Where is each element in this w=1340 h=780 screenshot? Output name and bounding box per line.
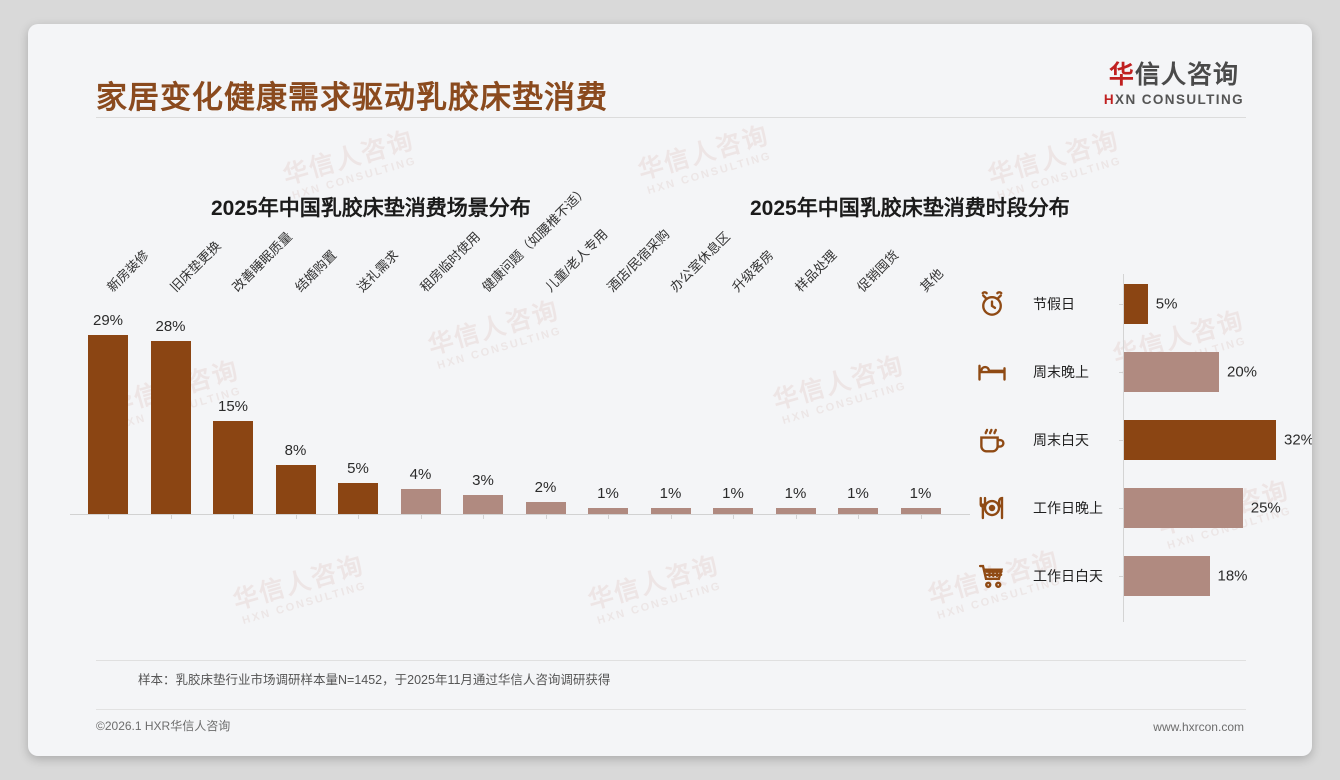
bar-value-label: 25%	[1251, 500, 1281, 517]
category-label: 送礼需求	[352, 245, 402, 295]
bar-row-label: 节假日	[1033, 294, 1075, 314]
right-chart-title: 2025年中国乳胶床垫消费时段分布	[750, 192, 1070, 222]
horizontal-bar[interactable]	[1124, 488, 1243, 528]
bar-row[interactable]: 节假日5%	[933, 270, 1283, 338]
axis-tick	[796, 514, 797, 519]
axis-tick	[421, 514, 422, 519]
bar-value-label: 5%	[1156, 296, 1178, 313]
column-value-label: 1%	[576, 485, 640, 502]
bar-row-label: 周末晚上	[1033, 362, 1089, 382]
bar-value-label: 32%	[1284, 432, 1312, 449]
time-distribution-chart: 节假日5%周末晚上20%周末白天32%工作日晚上25%工作日白天18%	[933, 270, 1283, 630]
column-value-label: 8%	[264, 442, 328, 459]
category-label: 样品处理	[790, 245, 840, 295]
column-plot-area: 29%新房装修28%旧床垫更换15%改善睡眠质量8%结婚购置5%送礼需求4%租房…	[70, 275, 970, 515]
slide-header: 家居变化健康需求驱动乳胶床垫消费 华信人咨询 HXN CONSULTING	[28, 24, 1312, 120]
axis-tick	[921, 514, 922, 519]
axis-tick	[546, 514, 547, 519]
copyright-text: ©2026.1 HXR华信人咨询	[96, 717, 230, 734]
column-bar[interactable]	[213, 421, 253, 514]
website-url: www.hxrcon.com	[1153, 720, 1244, 734]
bar-value-label: 20%	[1227, 364, 1257, 381]
logo-english-highlight: H	[1104, 92, 1115, 107]
scene-distribution-chart: 29%新房装修28%旧床垫更换15%改善睡眠质量8%结婚购置5%送礼需求4%租房…	[70, 275, 970, 540]
column-bar[interactable]	[463, 495, 503, 514]
header-divider	[96, 117, 1246, 118]
logo-english: HXN CONSULTING	[1104, 92, 1244, 107]
alarm-clock-icon	[977, 289, 1007, 319]
dining-plate-icon	[977, 493, 1007, 523]
logo-english-rest: XN CONSULTING	[1115, 92, 1244, 107]
company-logo: 华信人咨询 HXN CONSULTING	[1104, 62, 1244, 107]
category-label: 结婚购置	[290, 245, 340, 295]
horizontal-bar[interactable]	[1124, 420, 1276, 460]
footer-divider	[96, 709, 1246, 710]
column-bar-group[interactable]: 28%旧床垫更换	[151, 274, 191, 514]
horizontal-bar[interactable]	[1124, 556, 1210, 596]
category-label: 升级客房	[727, 245, 777, 295]
axis-tick	[171, 514, 172, 519]
footnote-divider	[96, 660, 1246, 661]
logo-chinese: 华信人咨询	[1104, 62, 1244, 90]
bar-row-label: 工作日白天	[1033, 566, 1103, 586]
column-value-label: 3%	[451, 472, 515, 489]
logo-chinese-rest: 信人咨询	[1135, 61, 1239, 89]
axis-tick	[233, 514, 234, 519]
page-title: 家居变化健康需求驱动乳胶床垫消费	[96, 72, 608, 117]
category-label: 新房装修	[102, 245, 152, 295]
column-value-label: 29%	[76, 312, 140, 329]
bar-row-label: 周末白天	[1033, 430, 1089, 450]
axis-tick	[858, 514, 859, 519]
column-bar-group[interactable]: 15%改善睡眠质量	[213, 274, 253, 514]
axis-tick	[483, 514, 484, 519]
column-bar[interactable]	[338, 483, 378, 514]
bar-value-label: 18%	[1218, 568, 1248, 585]
column-bar-group[interactable]: 3%健康问题（如腰椎不适）	[463, 274, 503, 514]
column-value-label: 28%	[139, 318, 203, 335]
bar-row[interactable]: 周末白天32%	[933, 406, 1283, 474]
shopping-cart-icon	[977, 561, 1007, 591]
source-note: 样本：乳胶床垫行业市场调研样本量N=1452，于2025年11月通过华信人咨询调…	[138, 669, 610, 688]
column-bar-group[interactable]: 2%儿童/老人专用	[526, 274, 566, 514]
column-bar-group[interactable]: 1%促销囤货	[838, 274, 878, 514]
column-value-label: 1%	[701, 485, 765, 502]
bar-row[interactable]: 工作日晚上25%	[933, 474, 1283, 542]
category-label: 促销囤货	[852, 245, 902, 295]
category-axis-line	[70, 514, 970, 515]
bar-row[interactable]: 周末晚上20%	[933, 338, 1283, 406]
axis-tick	[671, 514, 672, 519]
horizontal-bar[interactable]	[1124, 352, 1219, 392]
axis-tick	[358, 514, 359, 519]
column-bar[interactable]	[88, 335, 128, 514]
column-value-label: 1%	[826, 485, 890, 502]
column-bar[interactable]	[526, 502, 566, 514]
column-bar-group[interactable]: 1%样品处理	[776, 274, 816, 514]
column-value-label: 1%	[764, 485, 828, 502]
axis-tick	[733, 514, 734, 519]
column-bar-group[interactable]: 1%酒店/民宿采购	[588, 274, 628, 514]
axis-tick	[296, 514, 297, 519]
column-value-label: 1%	[639, 485, 703, 502]
axis-tick	[608, 514, 609, 519]
column-bar[interactable]	[151, 341, 191, 514]
column-bar-group[interactable]: 4%租房临时使用	[401, 274, 441, 514]
slide-page: 华信人咨询HXN CONSULTING华信人咨询HXN CONSULTING华信…	[28, 24, 1312, 756]
column-bar[interactable]	[401, 489, 441, 514]
column-value-label: 5%	[326, 460, 390, 477]
charts-area: 2025年中国乳胶床垫消费场景分布 2025年中国乳胶床垫消费时段分布 29%新…	[28, 120, 1312, 668]
axis-tick	[108, 514, 109, 519]
left-chart-title: 2025年中国乳胶床垫消费场景分布	[211, 192, 531, 222]
bar-row-label: 工作日晚上	[1033, 498, 1103, 518]
bed-icon	[977, 357, 1007, 387]
column-bar-group[interactable]: 8%结婚购置	[276, 274, 316, 514]
bar-row[interactable]: 工作日白天18%	[933, 542, 1283, 610]
column-value-label: 2%	[514, 479, 578, 496]
column-bar-group[interactable]: 1%办公室休息区	[651, 274, 691, 514]
coffee-mug-icon	[977, 425, 1007, 455]
horizontal-bar[interactable]	[1124, 284, 1148, 324]
column-value-label: 15%	[201, 398, 265, 415]
column-bar-group[interactable]: 1%升级客房	[713, 274, 753, 514]
column-bar-group[interactable]: 5%送礼需求	[338, 274, 378, 514]
column-bar[interactable]	[276, 465, 316, 515]
column-bar-group[interactable]: 29%新房装修	[88, 274, 128, 514]
logo-chinese-highlight: 华	[1109, 61, 1135, 89]
column-value-label: 4%	[389, 466, 453, 483]
